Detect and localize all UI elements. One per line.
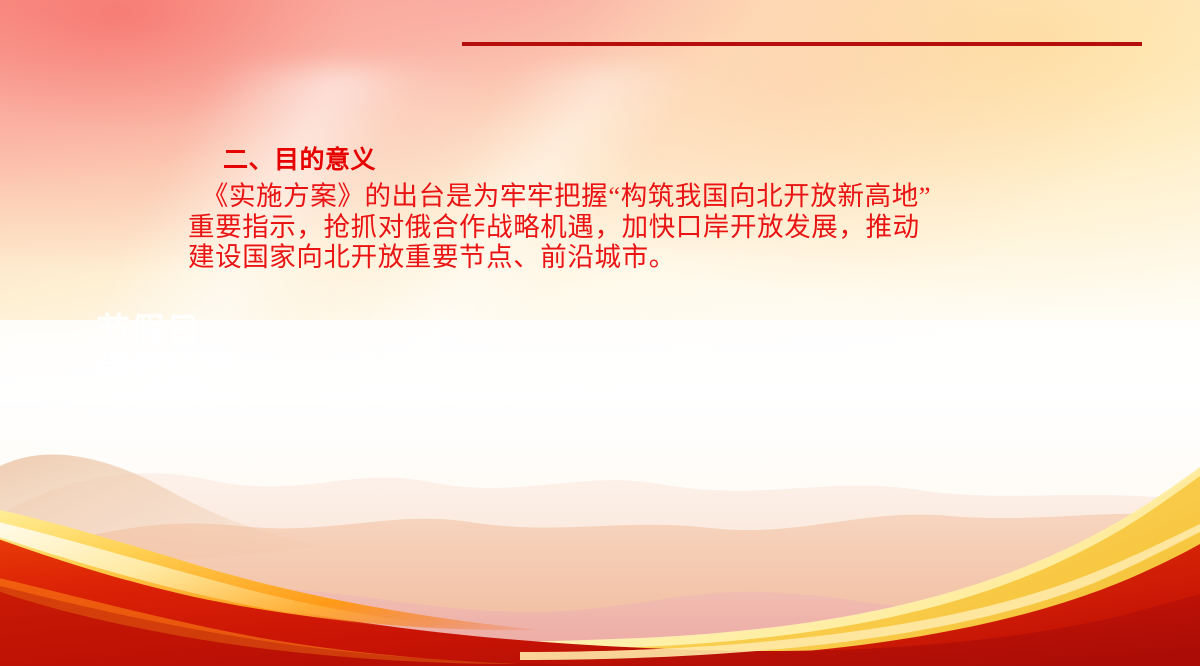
- ribbon-decoration: [0, 436, 1200, 666]
- body-paragraph: 《实施方案》的出台是为牢牢把握“构筑我国向北开放新高地” 重要指示，抢抓对俄合作…: [188, 181, 1038, 273]
- header-divider-rule: [462, 42, 1142, 46]
- section-heading: 二、目的意义: [223, 145, 1200, 175]
- presentation-slide: 节假日 带班值班 二、目的意义 《实施方案》的出台是为牢牢把握“构筑我国向北开放…: [0, 0, 1200, 666]
- slide-content: 二、目的意义 《实施方案》的出台是为牢牢把握“构筑我国向北开放新高地” 重要指示…: [0, 145, 1200, 273]
